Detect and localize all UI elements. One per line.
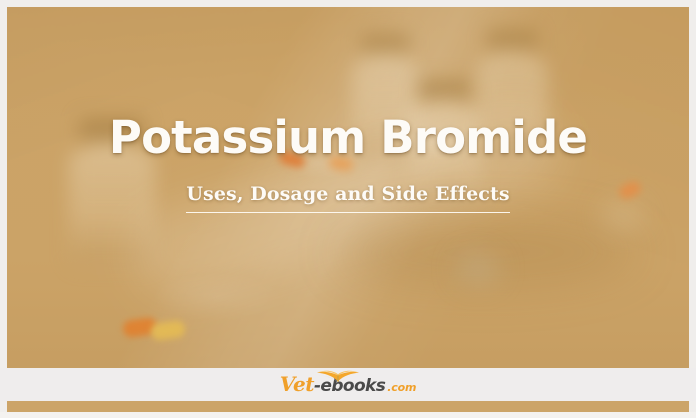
page-title: Potassium Bromide <box>109 114 587 161</box>
featured-image-card: Potassium Bromide Uses, Dosage and Side … <box>0 0 696 418</box>
logo-suffix-text: -ebooks <box>314 378 385 395</box>
bottom-edge <box>0 412 696 418</box>
logo-tld-text: .com <box>387 382 416 393</box>
page-subtitle-underline: Uses, Dosage and Side Effects <box>186 183 509 213</box>
footer-bar: Vet -ebooks .com <box>0 368 696 401</box>
accent-bar <box>7 401 689 412</box>
page-subtitle: Uses, Dosage and Side Effects <box>186 183 509 205</box>
site-logo[interactable]: Vet -ebooks .com <box>280 374 416 396</box>
hero-text-block: Potassium Bromide Uses, Dosage and Side … <box>7 7 689 368</box>
logo-brand-text: Vet <box>280 374 314 394</box>
hero-banner: Potassium Bromide Uses, Dosage and Side … <box>7 7 689 368</box>
